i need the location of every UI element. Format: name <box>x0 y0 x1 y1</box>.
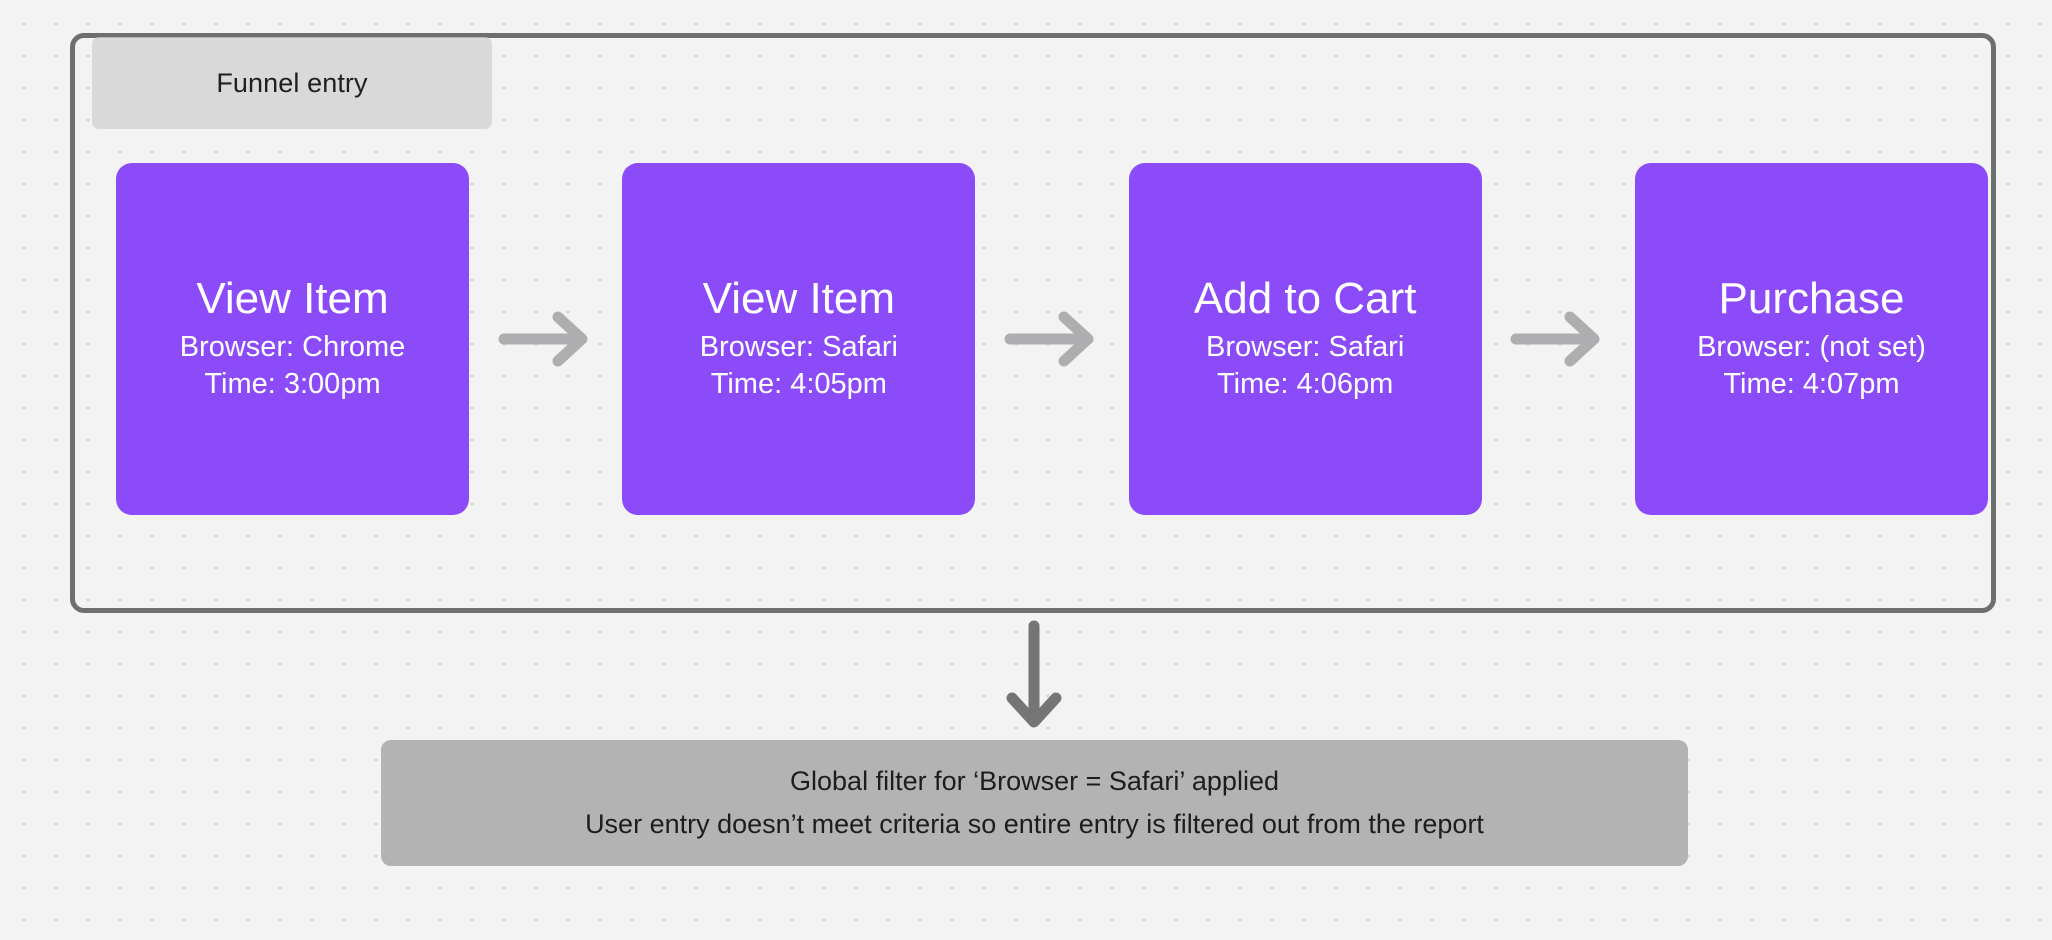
funnel-entry-label: Funnel entry <box>216 68 367 99</box>
funnel-step-card-4[interactable]: Purchase Browser: (not set) Time: 4:07pm <box>1635 163 1988 515</box>
funnel-step-card-3[interactable]: Add to Cart Browser: Safari Time: 4:06pm <box>1129 163 1482 515</box>
connector-1 <box>469 163 622 515</box>
filter-note-box: Global filter for ‘Browser = Safari’ app… <box>381 740 1688 866</box>
connector-2 <box>975 163 1128 515</box>
funnel-step-card-1[interactable]: View Item Browser: Chrome Time: 3:00pm <box>116 163 469 515</box>
step-time: Time: 4:07pm <box>1723 366 1899 403</box>
step-browser: Browser: Chrome <box>180 329 406 366</box>
funnel-steps-row: View Item Browser: Chrome Time: 3:00pm V… <box>0 163 2052 515</box>
step-browser: Browser: Safari <box>1206 329 1404 366</box>
arrow-right-icon <box>498 309 594 369</box>
step-browser: Browser: (not set) <box>1697 329 1926 366</box>
step-time: Time: 3:00pm <box>204 366 380 403</box>
step-title: View Item <box>196 275 388 323</box>
step-title: View Item <box>703 275 895 323</box>
arrow-down-icon <box>1006 620 1062 734</box>
step-browser: Browser: Safari <box>700 329 898 366</box>
filter-note-line-2: User entry doesn’t meet criteria so enti… <box>585 808 1484 842</box>
funnel-step-card-2[interactable]: View Item Browser: Safari Time: 4:05pm <box>622 163 975 515</box>
step-title: Add to Cart <box>1194 275 1417 323</box>
step-title: Purchase <box>1719 275 1905 323</box>
connector-3 <box>1482 163 1635 515</box>
filter-note-line-1: Global filter for ‘Browser = Safari’ app… <box>790 765 1279 799</box>
arrow-right-icon <box>1004 309 1100 369</box>
step-time: Time: 4:06pm <box>1217 366 1393 403</box>
arrow-right-icon <box>1510 309 1606 369</box>
step-time: Time: 4:05pm <box>711 366 887 403</box>
funnel-entry-chip: Funnel entry <box>92 37 492 129</box>
